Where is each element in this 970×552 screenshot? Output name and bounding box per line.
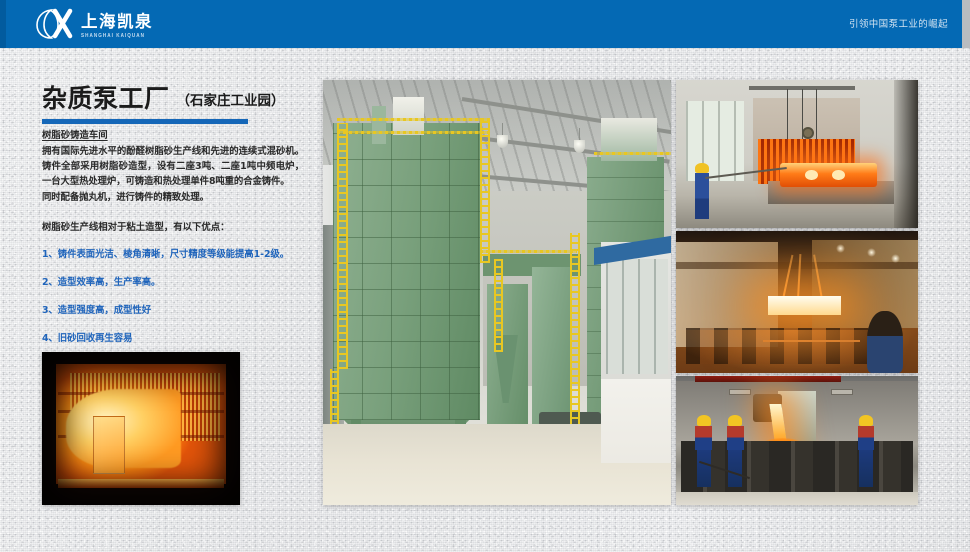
title-underline-rule xyxy=(42,119,248,124)
wall-sign xyxy=(729,389,751,395)
brand-logo[interactable]: 上海凯泉 SHANGHAI KAIQUAN xyxy=(36,6,153,42)
red-overhead-crane-girder xyxy=(695,376,840,382)
yellow-platform-railing xyxy=(480,250,577,253)
ceiling-lamp-icon xyxy=(836,244,845,253)
heat-treatment-furnace-interior-photo xyxy=(42,352,240,505)
brand-name-cn: 上海凯泉 xyxy=(81,12,153,31)
worker-legs xyxy=(728,450,742,487)
page-title: 杂质泵工厂 xyxy=(42,86,170,112)
exhaust-duct xyxy=(372,106,386,144)
worker-figure xyxy=(695,415,712,487)
yellow-platform-railing xyxy=(594,152,671,155)
worker-uniform xyxy=(695,426,712,451)
worker-figure xyxy=(695,163,708,219)
header-right-cap xyxy=(962,0,970,48)
heat-treatment-furnace-loading-photo xyxy=(676,80,918,228)
yellow-access-ladder xyxy=(480,118,490,263)
hot-casting-crane-lift-photo xyxy=(676,231,918,373)
green-dust-collector-housing xyxy=(333,123,479,421)
workshop-office-enclosure xyxy=(601,242,671,463)
safety-helmet-icon xyxy=(695,163,708,173)
body-paragraph-1: 拥有国际先进水平的酚醛树脂砂生产线和先进的连续式混砂机。铸件全部采用树脂砂造型，… xyxy=(42,144,304,190)
list-item: 2、造型效率高，生产率高。 xyxy=(42,276,304,290)
hoist-chain xyxy=(816,89,817,139)
page-title-block: 杂质泵工厂 （石家庄工业园） xyxy=(42,86,312,124)
safety-helmet-icon xyxy=(859,415,873,426)
brand-logo-text: 上海凯泉 SHANGHAI KAIQUAN xyxy=(81,11,153,38)
pendant-lamp-icon xyxy=(574,140,585,153)
exhaust-stack xyxy=(393,97,424,135)
yellow-platform-railing xyxy=(337,131,490,134)
list-item: 4、旧砂回收再生容易 xyxy=(42,332,304,346)
yellow-access-ladder xyxy=(337,123,348,370)
yellow-platform-railing xyxy=(337,118,490,121)
photo-right-shadow xyxy=(894,80,918,228)
header-slogan: 引领中国泵工业的崛起 xyxy=(849,16,948,30)
advantages-intro: 树脂砂生产线相对于粘土造型，有以下优点： xyxy=(42,220,304,235)
overhead-beam xyxy=(676,262,918,269)
worker-legs xyxy=(859,450,873,487)
brand-name-en: SHANGHAI KAIQUAN xyxy=(81,31,153,39)
slide-canvas: 上海凯泉 SHANGHAI KAIQUAN 引领中国泵工业的崛起 杂质泵工厂 （… xyxy=(0,0,970,552)
hoist-chain xyxy=(787,89,788,139)
glowing-hot-casting xyxy=(768,296,841,314)
header-left-edge xyxy=(0,0,6,48)
worker-figure xyxy=(858,415,875,487)
list-item: 1、铸件表面光洁、棱角清晰，尺寸精度等级能提高1-2级。 xyxy=(42,248,304,262)
page-title-row: 杂质泵工厂 （石家庄工业园） xyxy=(42,86,312,112)
body-text-block: 树脂砂铸造车间 拥有国际先进水平的酚醛树脂砂生产线和先进的连续式混砂机。铸件全部… xyxy=(42,129,304,360)
furnace-photo-vignette xyxy=(42,352,240,505)
safety-helmet-icon xyxy=(697,415,711,426)
wall-sign xyxy=(831,389,853,395)
kaiquan-mark-icon xyxy=(36,7,76,41)
foreground-worker-silhouette xyxy=(867,311,903,373)
foundry-floor xyxy=(676,492,918,505)
molten-metal-pouring-photo xyxy=(676,376,918,505)
worker-uniform xyxy=(727,426,744,451)
page-header: 上海凯泉 SHANGHAI KAIQUAN 引领中国泵工业的崛起 xyxy=(0,0,970,48)
advantages-list: 1、铸件表面光洁、棱角清晰，尺寸精度等级能提高1-2级。 2、造型效率高，生产率… xyxy=(42,248,304,346)
worker-legs xyxy=(697,450,711,487)
safety-helmet-icon xyxy=(728,415,742,426)
yellow-access-ladder xyxy=(494,259,503,353)
resin-sand-production-line-photo xyxy=(323,80,671,505)
body-paragraph-2: 同时配备抛丸机，进行铸件的精致处理。 xyxy=(42,190,304,205)
glowing-hot-casting xyxy=(780,163,877,187)
list-item: 3、造型强度高，成型性好 xyxy=(42,304,304,318)
section-heading: 树脂砂铸造车间 xyxy=(42,129,304,143)
yellow-access-ladder xyxy=(570,233,580,454)
worker-uniform xyxy=(858,426,875,451)
page-subtitle: （石家庄工业园） xyxy=(177,91,285,112)
worker-uniform xyxy=(695,173,708,219)
